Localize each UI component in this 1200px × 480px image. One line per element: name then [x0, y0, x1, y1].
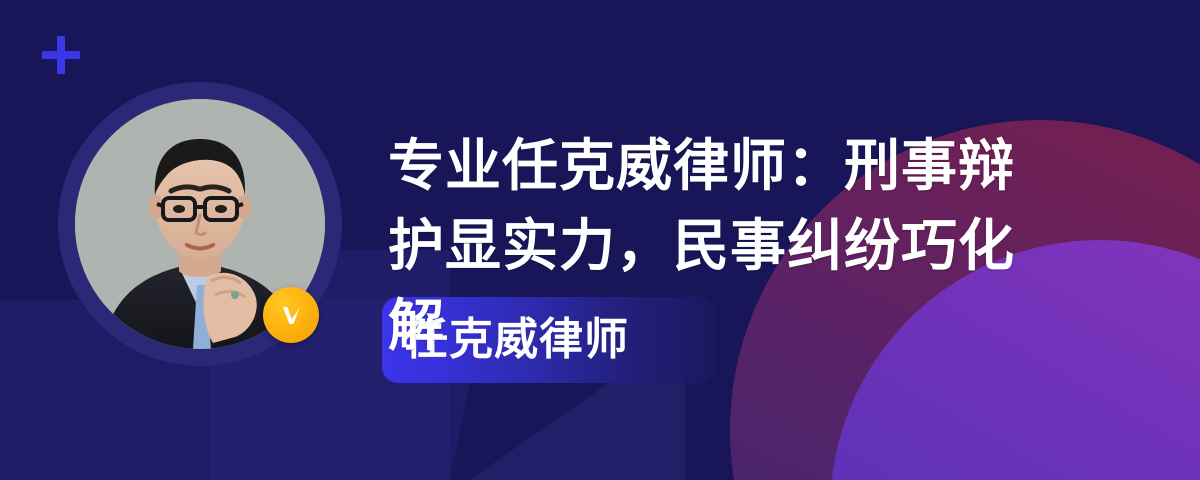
- headline-line-2: 护显实力，民事纠纷巧化: [388, 206, 1088, 286]
- headline-line-3: 解: [388, 286, 1088, 366]
- lawyer-promo-banner: 任克威律师 专业任克威律师：刑事辩 护显实力，民事纠纷巧化 解: [0, 0, 1200, 480]
- plus-icon: [42, 36, 80, 74]
- avatar[interactable]: [58, 82, 342, 366]
- headline-line-1: 专业任克威律师：刑事辩: [388, 126, 1088, 206]
- verified-check-icon: [263, 287, 319, 343]
- page-title: 专业任克威律师：刑事辩 护显实力，民事纠纷巧化 解: [388, 126, 1088, 366]
